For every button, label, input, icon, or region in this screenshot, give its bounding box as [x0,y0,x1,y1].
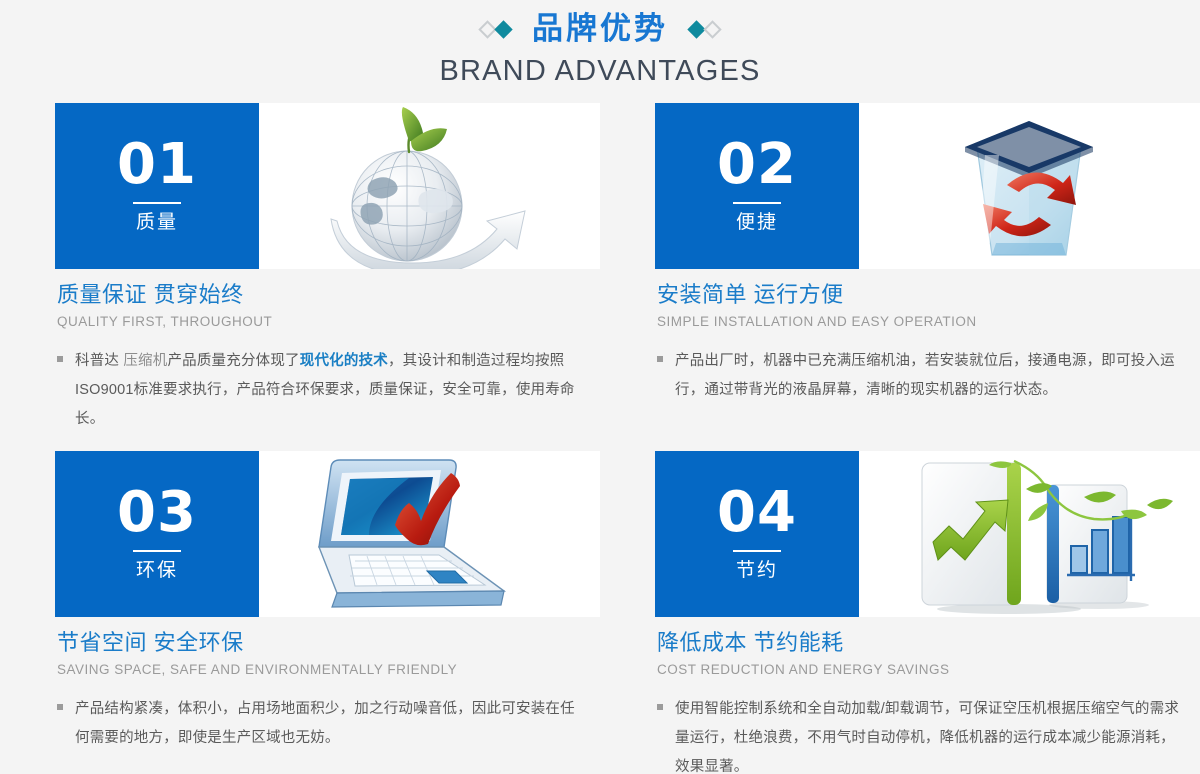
advantage-cards-grid: 01 质量 [0,103,1200,774]
card-title-cn: 节省空间 安全环保 [57,628,598,658]
card-number: 03 [117,485,197,541]
card-title-en: QUALITY FIRST, THROUGHOUT [57,311,598,333]
diamond-decoration-left [481,23,510,36]
card-number-box: 04 节约 [655,451,859,617]
card-number-box: 02 便捷 [655,103,859,269]
card-number-box: 03 环保 [55,451,259,617]
card-number: 02 [717,137,797,193]
diamond-solid-icon [494,20,512,38]
card-description-row: 产品出厂时，机器中已充满压缩机油，若安装就位后，接通电源，即可投入运行，通过带背… [657,347,1198,405]
card-keyword: 质量 [136,211,178,235]
card-description: 使用智能控制系统和全自动加载/卸载调节，可保证空压机根据压缩空气的需求量运行，杜… [675,695,1188,774]
advantage-card[interactable]: 02 便捷 [655,103,1200,434]
card-body: 安装简单 运行方便 SIMPLE INSTALLATION AND EASY O… [655,269,1200,405]
advantage-card[interactable]: 04 节约 [655,451,1200,774]
card-title-en: SIMPLE INSTALLATION AND EASY OPERATION [657,311,1198,333]
card-title-en: SAVING SPACE, SAFE AND ENVIRONMENTALLY F… [57,659,598,681]
card-body: 节省空间 安全环保 SAVING SPACE, SAFE AND ENVIRON… [55,617,600,753]
card-title-cn: 质量保证 贯穿始终 [57,280,598,310]
bullet-square-icon [57,704,75,753]
diamond-hollow-icon [703,20,721,38]
page-header: 品牌优势 BRAND ADVANTAGES [0,0,1200,91]
advantage-card[interactable]: 03 环保 [55,451,600,774]
header-title-row: 品牌优势 [0,8,1200,50]
card-number-box: 01 质量 [55,103,259,269]
bullet-square-icon [657,356,675,405]
laptop-checkmark-icon [259,451,600,617]
recycle-bin-icon [859,103,1200,269]
card-banner: 03 环保 [55,451,600,617]
advantage-card[interactable]: 01 质量 [55,103,600,434]
page-title-en: BRAND ADVANTAGES [0,51,1200,91]
card-body: 质量保证 贯穿始终 QUALITY FIRST, THROUGHOUT 科普达 … [55,269,600,434]
card-banner: 04 节约 [655,451,1200,617]
card-number-divider [733,202,781,204]
card-body: 降低成本 节约能耗 COST REDUCTION AND ENERGY SAVI… [655,617,1200,774]
card-description-row: 使用智能控制系统和全自动加载/卸载调节，可保证空压机根据压缩空气的需求量运行，杜… [657,695,1198,774]
card-number-divider [733,550,781,552]
bullet-square-icon [657,704,675,774]
bullet-square-icon [57,356,75,434]
card-description: 产品出厂时，机器中已充满压缩机油，若安装就位后，接通电源，即可投入运行，通过带背… [675,347,1188,405]
globe-sprout-arrow-icon [259,103,600,269]
card-title-en: COST REDUCTION AND ENERGY SAVINGS [657,659,1198,681]
card-description: 科普达 压缩机产品质量充分体现了现代化的技术，其设计和制造过程均按照ISO900… [75,347,588,434]
card-keyword: 便捷 [736,211,778,235]
card-description-row: 科普达 压缩机产品质量充分体现了现代化的技术，其设计和制造过程均按照ISO900… [57,347,598,434]
card-description-row: 产品结构紧凑，体积小，占用场地面积少，加之行动噪音低，因此可安装在任何需要的地方… [57,695,598,753]
page-title-cn: 品牌优势 [532,8,668,50]
card-keyword: 节约 [736,559,778,583]
card-title-cn: 安装简单 运行方便 [657,280,1198,310]
card-number: 01 [117,137,197,193]
card-keyword: 环保 [136,559,178,583]
card-description: 产品结构紧凑，体积小，占用场地面积少，加之行动噪音低，因此可安装在任何需要的地方… [75,695,588,753]
card-number-divider [133,550,181,552]
card-banner: 01 质量 [55,103,600,269]
diamond-decoration-right [690,23,719,36]
card-banner: 02 便捷 [655,103,1200,269]
card-number-divider [133,202,181,204]
card-number: 04 [717,485,797,541]
card-title-cn: 降低成本 节约能耗 [657,628,1198,658]
growth-chart-vine-icon [859,451,1200,617]
